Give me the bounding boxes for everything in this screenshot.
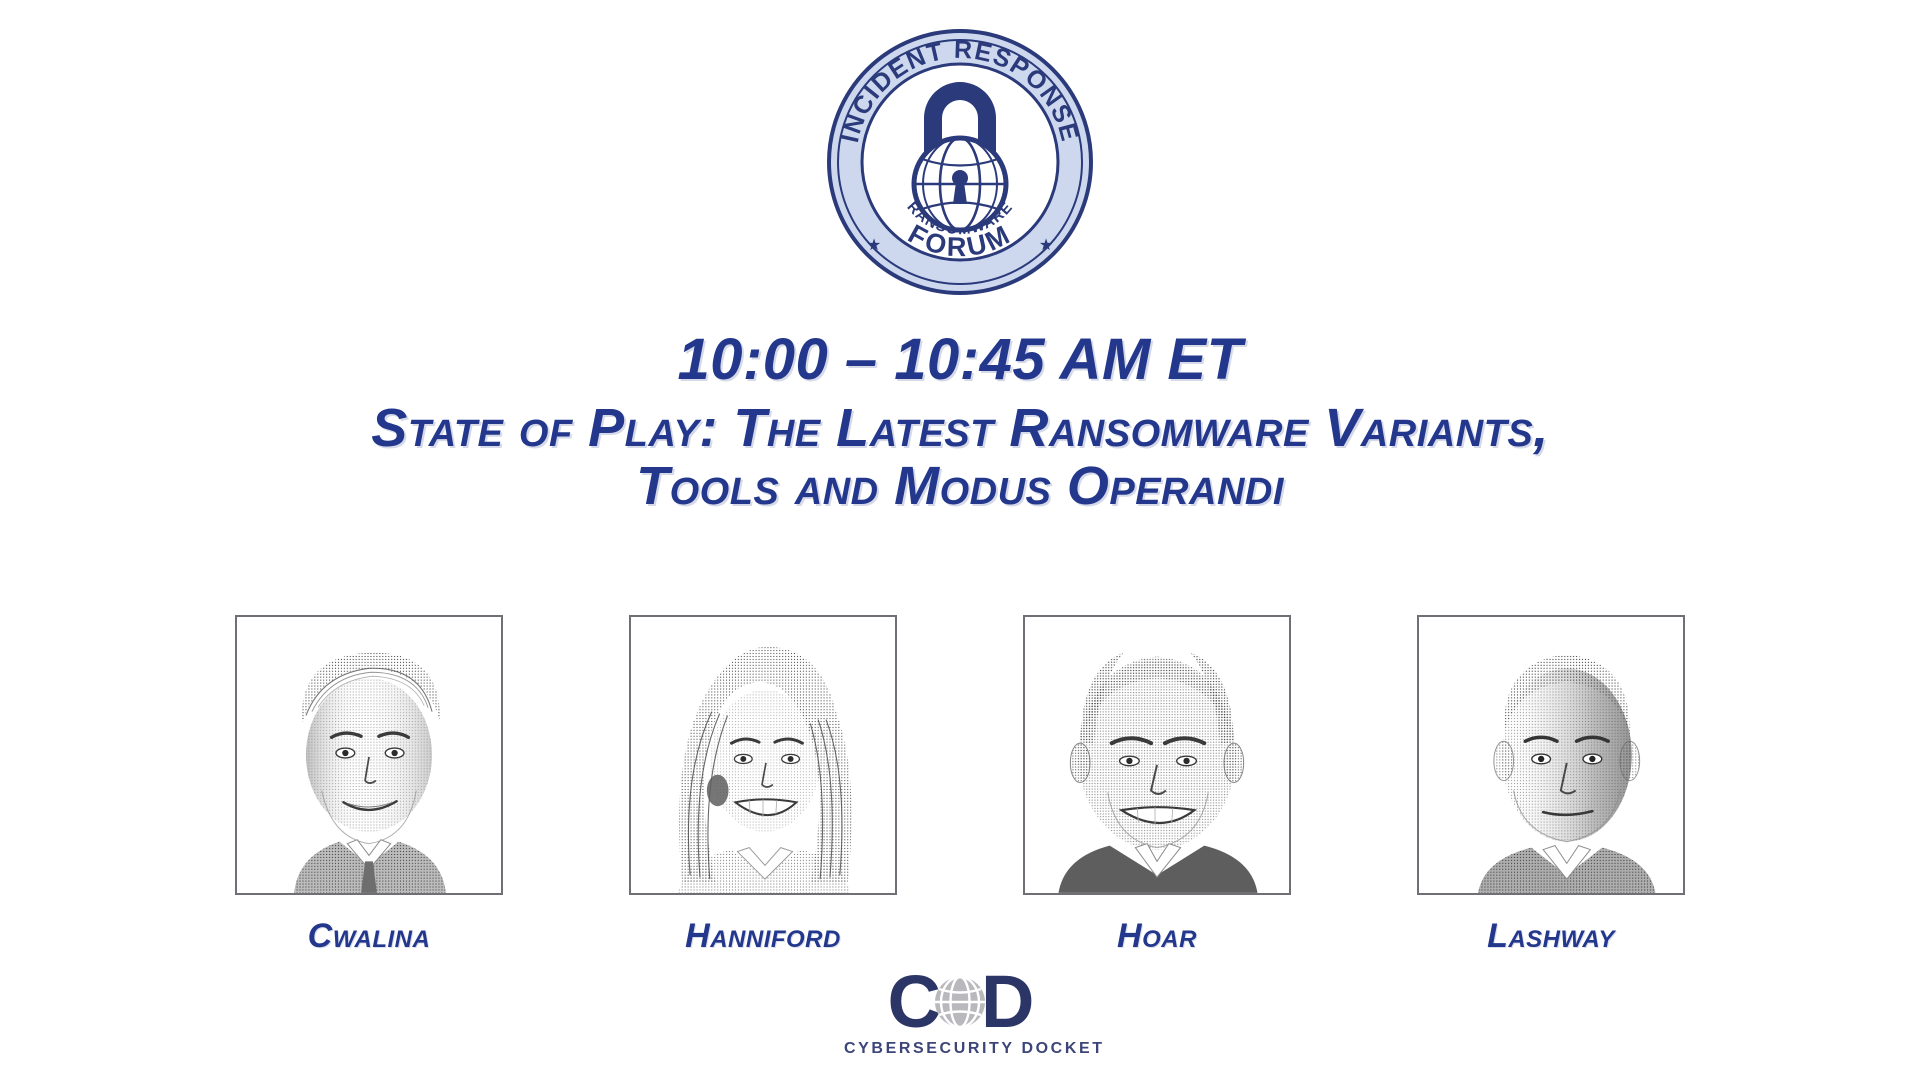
logo-letter-d: D: [981, 965, 1032, 1039]
portrait-hedcut-hoar: [1023, 615, 1291, 895]
cybersecurity-docket-logo[interactable]: C D CYBERSECURITY DOCKET: [844, 971, 1076, 1058]
speaker-name-label: Hoar: [1117, 917, 1197, 956]
speakers-row: Cwalina: [0, 615, 1920, 956]
globe-icon: [933, 975, 987, 1029]
speaker-name-label: Lashway: [1487, 917, 1615, 956]
speaker-card[interactable]: Cwalina: [235, 615, 503, 956]
seal-star-right-icon: ★: [1039, 237, 1053, 254]
session-title-line-1: State of Play: The Latest Ransomware Var…: [0, 398, 1920, 460]
portrait-hedcut-lashway: [1417, 615, 1685, 895]
speaker-card[interactable]: Hanniford: [629, 615, 897, 956]
session-title-block: 10:00 – 10:45 AM ET State of Play: The L…: [0, 330, 1920, 517]
session-time: 10:00 – 10:45 AM ET: [0, 330, 1920, 390]
logo-wordmark: CYBERSECURITY DOCKET: [844, 1040, 1076, 1058]
speaker-name-label: Hanniford: [685, 917, 841, 956]
speaker-card[interactable]: Lashway: [1417, 615, 1685, 956]
portrait-hedcut-cwalina: [235, 615, 503, 895]
speaker-name-label: Cwalina: [308, 917, 431, 956]
cd-monogram: C D: [844, 971, 1076, 1033]
portrait-hedcut-hanniford: [629, 615, 897, 895]
seal-star-left-icon: ★: [867, 237, 881, 254]
incident-response-forum-seal: INCIDENT RESPONSE FORUM RANSOMWARE ★ ★: [826, 28, 1094, 296]
logo-letter-c: C: [888, 965, 939, 1039]
speaker-card[interactable]: Hoar: [1023, 615, 1291, 956]
slide-canvas: INCIDENT RESPONSE FORUM RANSOMWARE ★ ★: [0, 0, 1920, 1080]
session-title-line-2: Tools and Modus Operandi: [0, 456, 1920, 518]
